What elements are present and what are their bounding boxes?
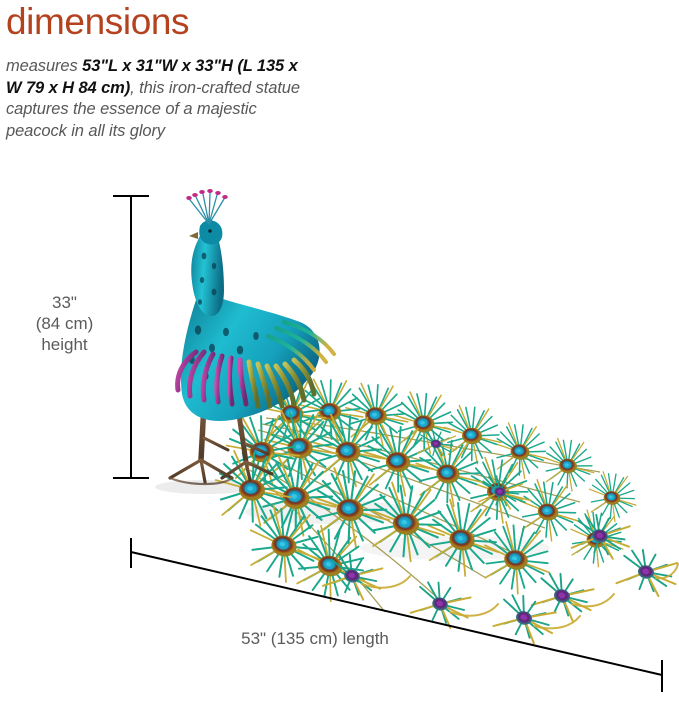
dimension-guides (0, 0, 679, 705)
height-rule (113, 196, 149, 478)
length-rule (131, 538, 662, 692)
length-rule-line (131, 552, 662, 675)
dimensions-infographic: dimensions measures 53"L x 31"W x 33"H (… (0, 0, 679, 705)
